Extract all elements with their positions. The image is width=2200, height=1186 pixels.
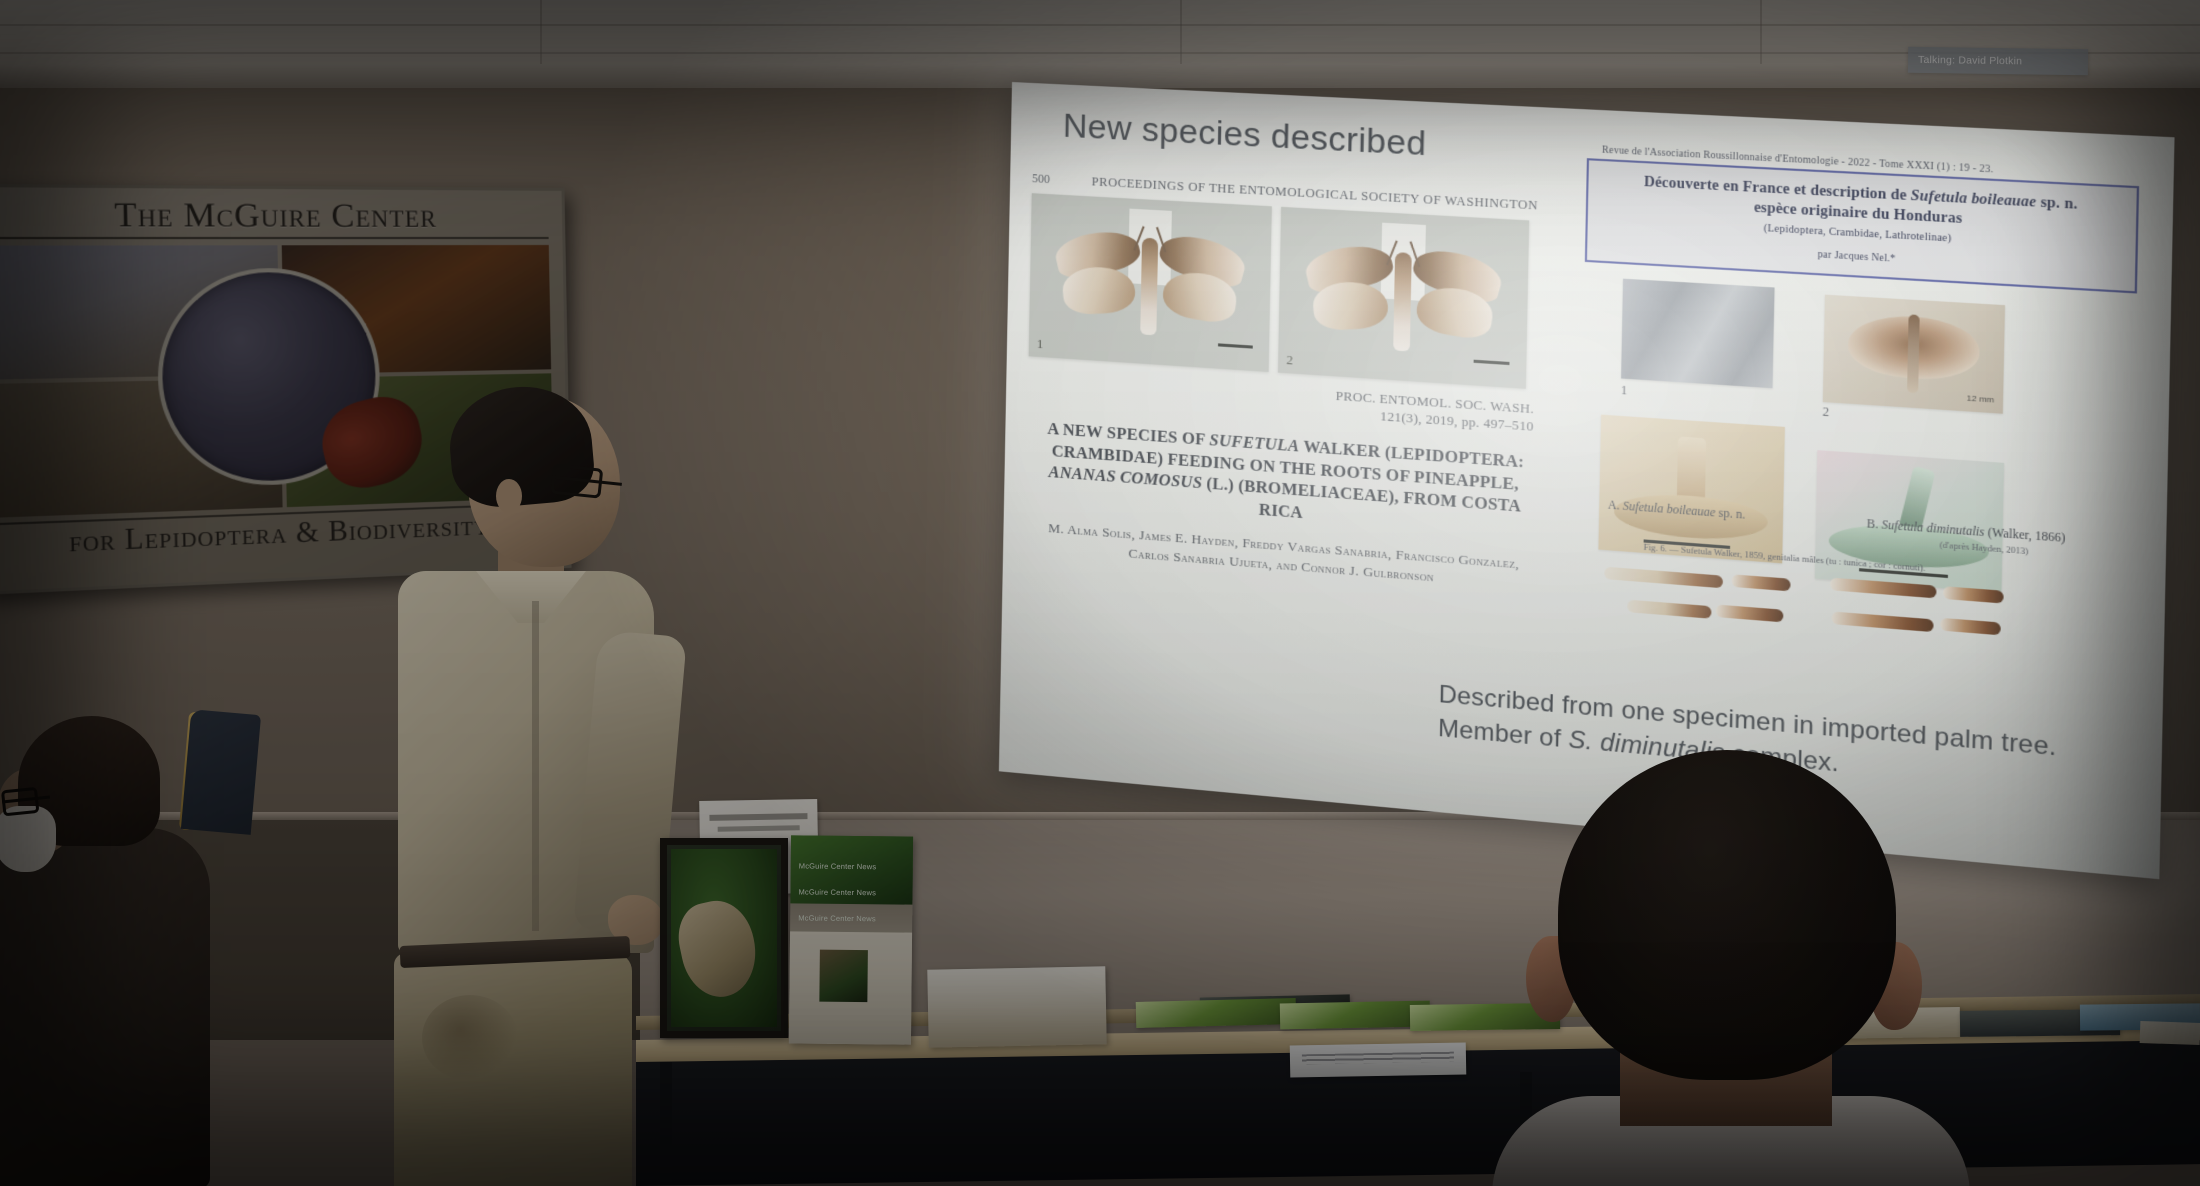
handout-sheet xyxy=(1290,1042,1467,1077)
figure-scale-label: 12 mm xyxy=(1967,393,1995,404)
moth-body xyxy=(1140,237,1158,335)
moth-specimen xyxy=(1304,245,1502,372)
paper-pile xyxy=(2140,1021,2200,1045)
brochure-title-3: McGuire Center News xyxy=(798,913,876,923)
left-paper-page-number: 500 xyxy=(1032,171,1080,189)
green-brochure xyxy=(1136,998,1297,1028)
figure-genitalia-photo-a xyxy=(1598,414,1785,563)
hindwing-left xyxy=(1311,280,1389,330)
newsletter-page xyxy=(789,931,912,1044)
moth-plates: 1 2 xyxy=(1029,193,1551,390)
presenter-ear xyxy=(496,479,522,513)
moth-plate-1: 1 xyxy=(1029,193,1272,372)
presenter-trousers xyxy=(394,953,632,1186)
brochure-stack: McGuire Center News McGuire Center News … xyxy=(789,835,913,1044)
chair-back xyxy=(181,709,261,835)
presenter-pocket-shadow xyxy=(422,995,518,1081)
table-leg xyxy=(660,1062,672,1182)
figure-number-2: 2 xyxy=(1822,404,1829,420)
moth-body xyxy=(1393,252,1412,351)
left-paper-figure: 500 PROCEEDINGS OF THE ENTOMOLOGICAL SOC… xyxy=(1025,171,1551,595)
presenter-shirt-placket xyxy=(532,601,539,931)
moth-specimen xyxy=(1054,230,1246,355)
moth-body-graphic xyxy=(1907,314,1920,393)
attendee-left-torso xyxy=(0,828,210,1186)
attendee-foreground-seated xyxy=(1470,750,1990,1186)
attendee-foreground-head xyxy=(1558,750,1896,1080)
right-paper-figure-grid: 1 12 mm 2 xyxy=(1578,276,2137,662)
newsletter-photo xyxy=(819,950,868,1002)
brochure-title-2: McGuire Center News xyxy=(798,887,876,897)
slide-title: New species described xyxy=(1063,107,1427,165)
plate-index-label: 1 xyxy=(1037,336,1044,352)
book-stack xyxy=(927,966,1106,1047)
conference-room-photo: The McGuire Center for Lepidoptera & Bio… xyxy=(0,0,2200,1186)
brochure-title-1: McGuire Center News xyxy=(799,861,877,871)
hindwing-left xyxy=(1061,266,1137,315)
poster-title: The McGuire Center xyxy=(0,198,549,239)
figure-number-1: 1 xyxy=(1621,382,1628,398)
talking-indicator-banner: Talking: David Plotkin xyxy=(1908,47,2088,76)
figure-moth-specimen-photo: 12 mm xyxy=(1823,294,2005,413)
moth-plate-2: 2 xyxy=(1278,207,1529,389)
handout-text-lines xyxy=(1302,1052,1454,1065)
figure-moth-on-wall-photo xyxy=(1621,278,1775,388)
plate-index-label: 2 xyxy=(1286,352,1293,369)
right-paper-figure: Revue de l'Association Roussillonnaise d… xyxy=(1578,145,2140,662)
talking-indicator-label: Talking: David Plotkin xyxy=(1918,54,2022,67)
green-brochure xyxy=(1280,1001,1430,1030)
framed-specimen-display-case xyxy=(660,838,788,1038)
